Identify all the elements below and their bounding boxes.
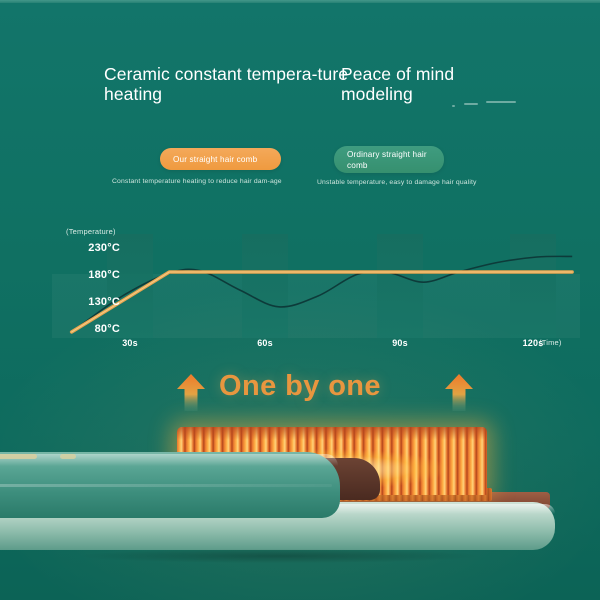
product-image [0, 418, 600, 600]
x-tick-30s: 30s [110, 338, 150, 348]
y-tick-180: 180°C [58, 269, 120, 281]
top-hairline [0, 0, 600, 3]
heading-right: Peace of mind modeling [341, 64, 521, 104]
curve-our-comb [72, 272, 573, 332]
comb-button-secondary[interactable] [60, 454, 76, 459]
badge-our-comb: Our straight hair comb [160, 148, 281, 170]
product-shadow [0, 546, 560, 566]
comb-teeth-top-shade [177, 427, 487, 440]
caption-our-comb: Constant temperature heating to reduce h… [112, 177, 308, 186]
y-axis-title: (Temperature) [66, 227, 116, 236]
comb-handle-highlight [0, 454, 338, 466]
promo-headline: One by one [0, 370, 600, 403]
caption-ordinary-comb: Unstable temperature, easy to damage hai… [317, 178, 537, 187]
curve-our-comb-highlight [72, 272, 573, 332]
temperature-chart: (Temperature) (Time) 230°C 180°C 130°C 8… [52, 228, 580, 353]
heading-left: Ceramic constant tempera-ture heating [104, 64, 349, 104]
headings-row: Ceramic constant tempera-ture heating Pe… [0, 64, 600, 120]
promo-page: Ceramic constant tempera-ture heating Pe… [0, 0, 600, 600]
decor-dash-1 [452, 105, 455, 107]
decor-dash-3 [486, 101, 516, 103]
x-tick-120s: 120s [513, 338, 553, 348]
x-tick-60s: 60s [245, 338, 285, 348]
decor-dash-2 [464, 103, 478, 105]
y-tick-80: 80°C [58, 323, 120, 335]
y-tick-130: 130°C [58, 296, 120, 308]
y-tick-230: 230°C [58, 242, 120, 254]
curve-ordinary-comb [72, 256, 573, 332]
x-tick-90s: 90s [380, 338, 420, 348]
comb-button-primary[interactable] [0, 454, 37, 459]
badge-ordinary-comb: Ordinary straight hair comb [334, 146, 444, 173]
comb-handle-seam [0, 484, 332, 487]
promo-headline-row: One by one [0, 368, 600, 416]
chart-curves [52, 228, 580, 346]
up-arrow-icon-right [444, 372, 474, 412]
